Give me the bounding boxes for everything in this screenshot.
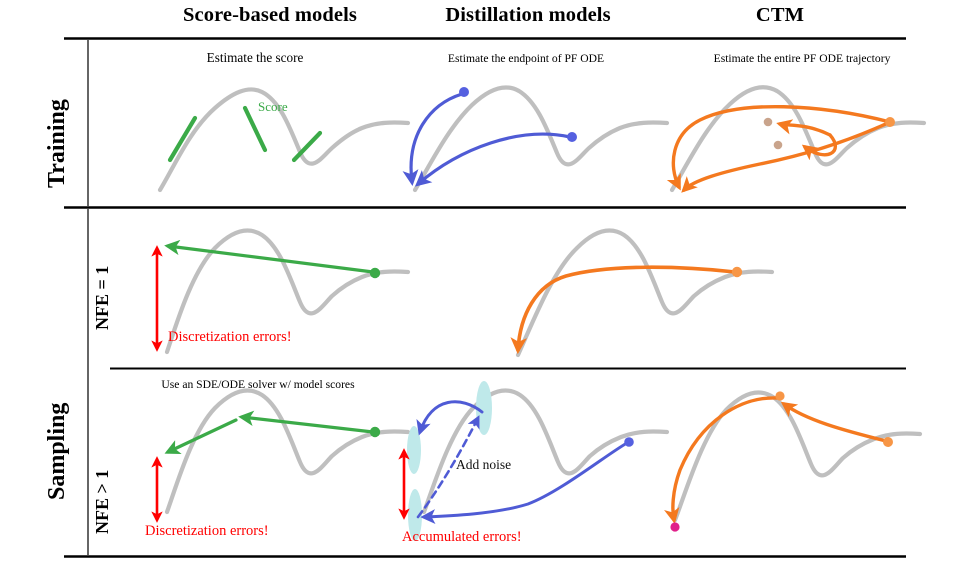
ctm-intermediate-dot	[775, 391, 784, 400]
illustration-nfeN-ctm	[0, 0, 959, 575]
ctm-start-dot-nfeN	[883, 437, 893, 447]
final-sample-dot	[670, 522, 679, 531]
figure-root: Score-based models Distillation models C…	[0, 0, 959, 575]
ctm-step-1-to-final	[673, 398, 778, 520]
